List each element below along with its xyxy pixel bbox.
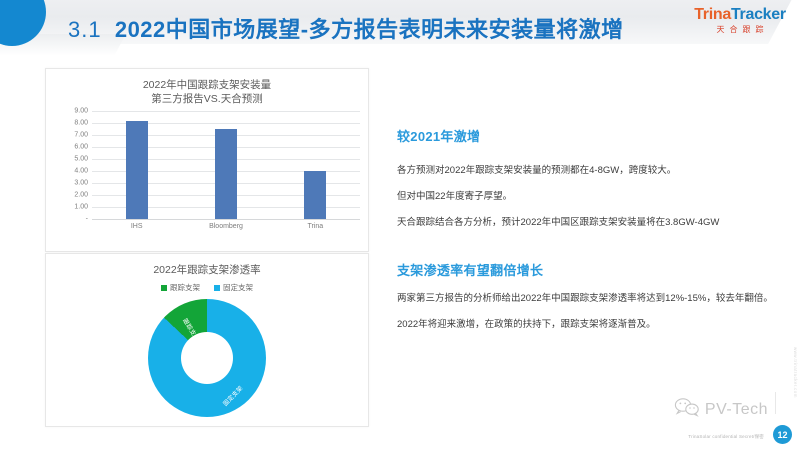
bar-chart-y-tick: 5.00 [74,156,88,163]
slide-canvas: 3.1 2022中国市场展望-多方报告表明未来安装量将激增 TrinaTrack… [0,0,800,450]
bar-chart-plot-area [92,111,360,219]
bar-chart-bar [126,121,148,219]
confidential-note: TrinaSolar confidential Secret/保密 [688,434,764,440]
paragraph-growth-3: 天合跟踪结合各方分析，预计2022年中国区跟踪支架安装量将在3.8GW-4GW [397,215,773,230]
bar-chart-x-axis: IHSBloombergTrina [92,223,360,239]
bar-chart-y-axis: 9.008.007.006.005.004.003.002.001.00- [54,111,88,219]
donut-hole [181,332,233,384]
bar-chart-x-label: Trina [307,223,323,230]
bar-chart-y-tick: 1.00 [74,204,88,211]
section-heading-penetration: 支架渗透率有望翻倍增长 [397,260,773,279]
donut-chart-title: 2022年跟踪支架渗透率 [46,254,368,277]
trinatracker-logo: TrinaTracker 天合跟踪 [688,7,792,34]
wechat-icon [674,397,700,422]
bar-chart-title-line1: 2022年中国跟踪支架安装量 [46,78,368,92]
bar-chart-x-label: IHS [131,223,143,230]
paragraph-penetration-1: 两家第三方报告的分析师给出2022年中国跟踪支架渗透率将达到12%-15%，较去… [397,291,773,306]
bar-chart-title-line2: 第三方报告VS.天合预测 [46,92,368,106]
bar-chart-y-tick: 7.00 [74,132,88,139]
donut-legend-label: 固定支架 [223,282,253,293]
donut-chart-card: 2022年跟踪支架渗透率 跟踪支架固定支架 跟踪支架 固定支架 [45,253,369,427]
donut-chart-legend: 跟踪支架固定支架 [46,282,368,293]
logo-brand-first: Trina [694,6,731,23]
side-watermark-text: www.trinatracker.com [793,347,798,398]
bar-chart-y-tick: 9.00 [74,108,88,115]
bar-chart-gridline [92,219,360,220]
bar-chart-y-tick: 2.00 [74,192,88,199]
text-block-growth: 较2021年激增 各方预测对2022年跟踪支架安装量的预测都在4-8GW，跨度较… [397,126,773,230]
donut-chart-plot: 跟踪支架 固定支架 [148,299,266,417]
slide-title-text: 2022中国市场展望-多方报告表明未来安装量将激增 [115,17,624,42]
bar-chart-bar [215,129,237,219]
bar-chart-bar [304,171,326,219]
section-heading-growth: 较2021年激增 [397,126,773,145]
slide-number: 3.1 [68,17,102,42]
bar-chart-card: 2022年中国跟踪支架安装量 第三方报告VS.天合预测 9.008.007.00… [45,68,369,252]
content-text-column: 较2021年激增 各方预测对2022年跟踪支架安装量的预测都在4-8GW，跨度较… [397,126,773,343]
bar-chart-y-tick: - [86,216,88,223]
donut-legend-item: 固定支架 [214,282,253,293]
logo-wordmark: TrinaTracker [688,7,792,23]
bar-chart-title: 2022年中国跟踪支架安装量 第三方报告VS.天合预测 [46,69,368,106]
pv-tech-label: PV-Tech [705,401,768,419]
paragraph-growth-2: 但对中国22年度寄子厚望。 [397,189,773,204]
page-number-badge: 12 [773,425,792,444]
donut-legend-swatch [214,285,220,291]
paragraph-penetration-2: 2022年将迎来激增，在政策的扶持下，跟踪支架将逐渐普及。 [397,317,773,332]
bar-chart-y-tick: 4.00 [74,168,88,175]
bar-chart-y-tick: 3.00 [74,180,88,187]
bar-chart-gridline [92,111,360,112]
pv-tech-watermark: PV-Tech [674,397,768,422]
bar-chart-plot: 9.008.007.006.005.004.003.002.001.00- IH… [46,111,368,251]
bar-chart-y-tick: 6.00 [74,144,88,151]
donut-legend-label: 跟踪支架 [170,282,200,293]
paragraph-growth-1: 各方预测对2022年跟踪支架安装量的预测都在4-8GW，跨度较大。 [397,163,773,178]
bar-chart-y-tick: 8.00 [74,120,88,127]
bar-chart-x-label: Bloomberg [209,223,243,230]
logo-brand-second: Tracker [731,6,786,23]
page-title: 3.1 2022中国市场展望-多方报告表明未来安装量将激增 [68,12,624,44]
footer-divider [775,392,776,414]
donut-legend-item: 跟踪支架 [161,282,200,293]
text-block-penetration: 支架渗透率有望翻倍增长 两家第三方报告的分析师给出2022年中国跟踪支架渗透率将… [397,260,773,332]
logo-brand-chinese: 天合跟踪 [688,26,792,34]
donut-legend-swatch [161,285,167,291]
